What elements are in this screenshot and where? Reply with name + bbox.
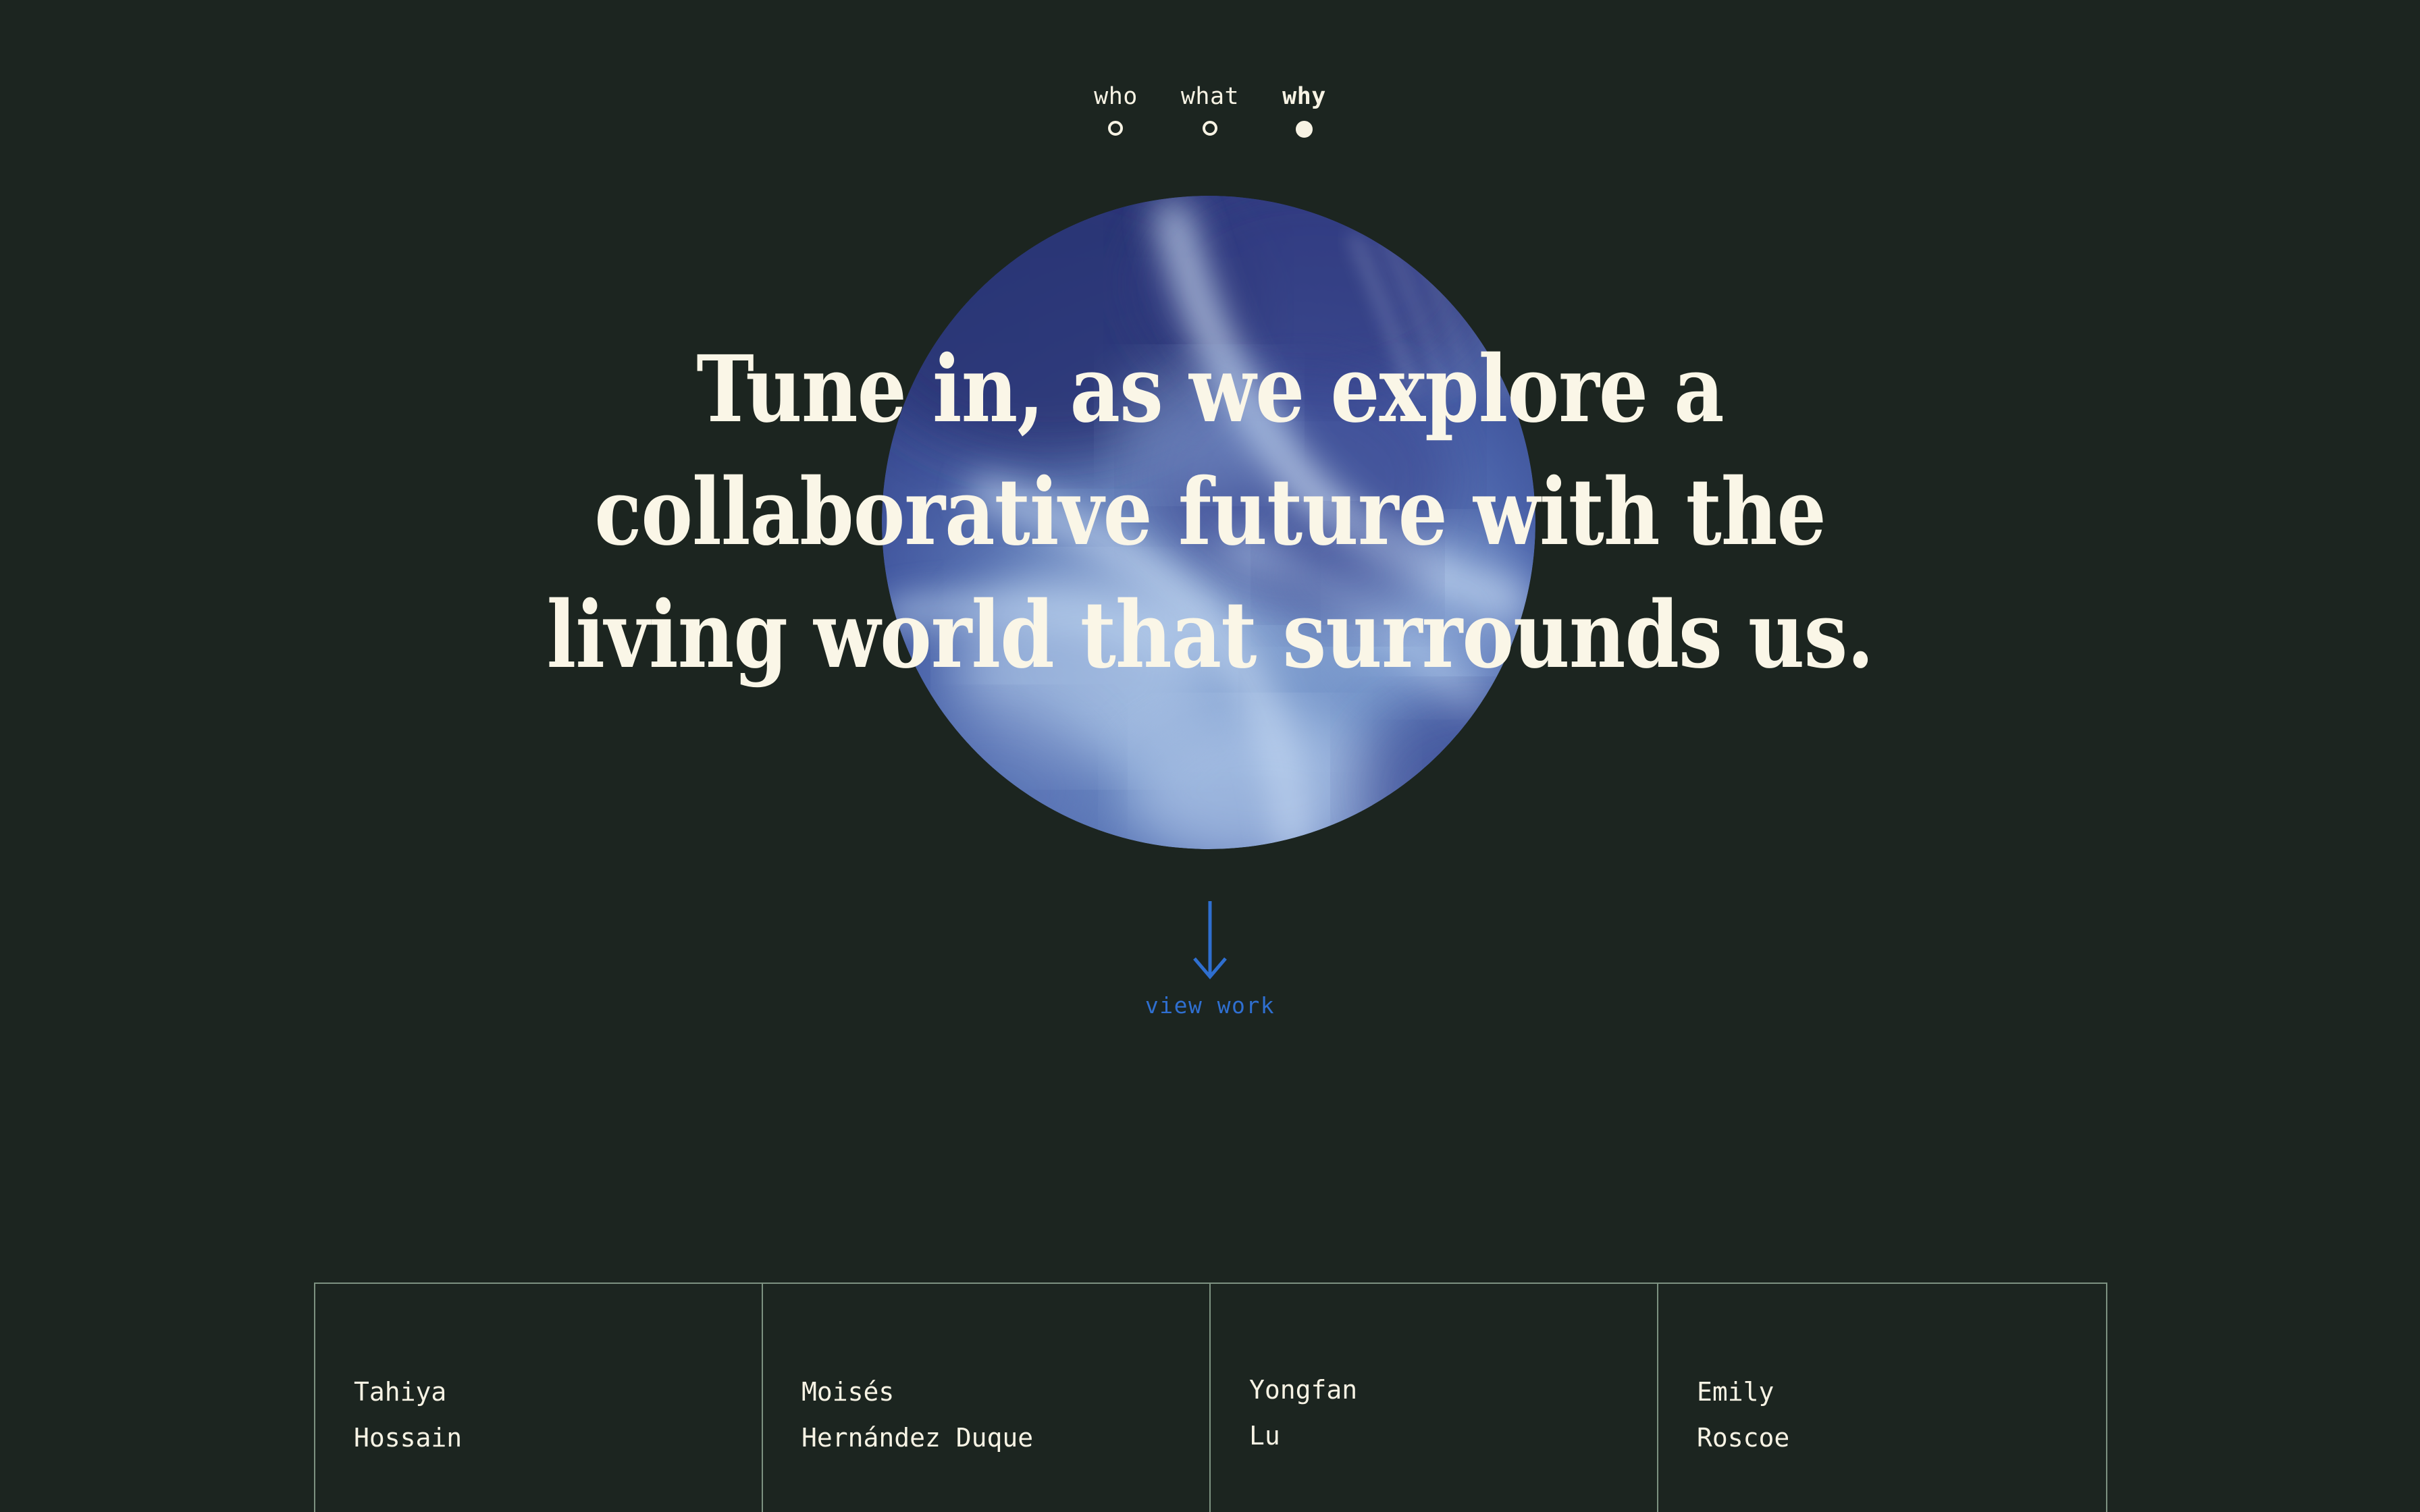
- scroll-cue[interactable]: view work: [0, 900, 2420, 1017]
- view-work-link[interactable]: view work: [1145, 994, 1275, 1017]
- page-title: Tune in, as we explore a collaborative f…: [73, 328, 2348, 697]
- nav-label-what: what: [1181, 85, 1239, 109]
- people-grid: Tahiya Hossain Moisés Hernández Duque Yo…: [314, 1282, 2107, 1512]
- nav-item-why[interactable]: why: [1282, 85, 1326, 138]
- person-last-name: Roscoe: [1697, 1415, 2106, 1461]
- arrow-down-icon: [1190, 900, 1230, 979]
- person-card-emily-roscoe[interactable]: Emily Roscoe: [1658, 1284, 2106, 1512]
- person-first-name: Moisés: [801, 1369, 1209, 1415]
- person-card-yongfan-lu[interactable]: Yongfan Lu: [1211, 1284, 1658, 1512]
- person-card-moises-hernandez-duque[interactable]: Moisés Hernández Duque: [763, 1284, 1211, 1512]
- nav-item-who[interactable]: who: [1094, 85, 1138, 136]
- nav-item-what[interactable]: what: [1181, 85, 1239, 136]
- section-nav: who what why: [0, 85, 2420, 138]
- page-root: who what why: [0, 0, 2420, 1512]
- person-card-tahiya-hossain[interactable]: Tahiya Hossain: [315, 1284, 763, 1512]
- person-last-name: Lu: [1249, 1413, 1657, 1459]
- person-first-name: Tahiya: [354, 1369, 762, 1415]
- person-first-name: Emily: [1697, 1369, 2106, 1415]
- hollow-dot-icon: [1108, 121, 1123, 136]
- hollow-dot-icon: [1203, 121, 1217, 136]
- person-last-name: Hernández Duque: [801, 1415, 1209, 1461]
- filled-dot-icon: [1296, 121, 1313, 138]
- nav-label-who: who: [1094, 85, 1138, 109]
- person-first-name: Yongfan: [1249, 1367, 1657, 1413]
- nav-label-why: why: [1282, 85, 1326, 109]
- person-last-name: Hossain: [354, 1415, 762, 1461]
